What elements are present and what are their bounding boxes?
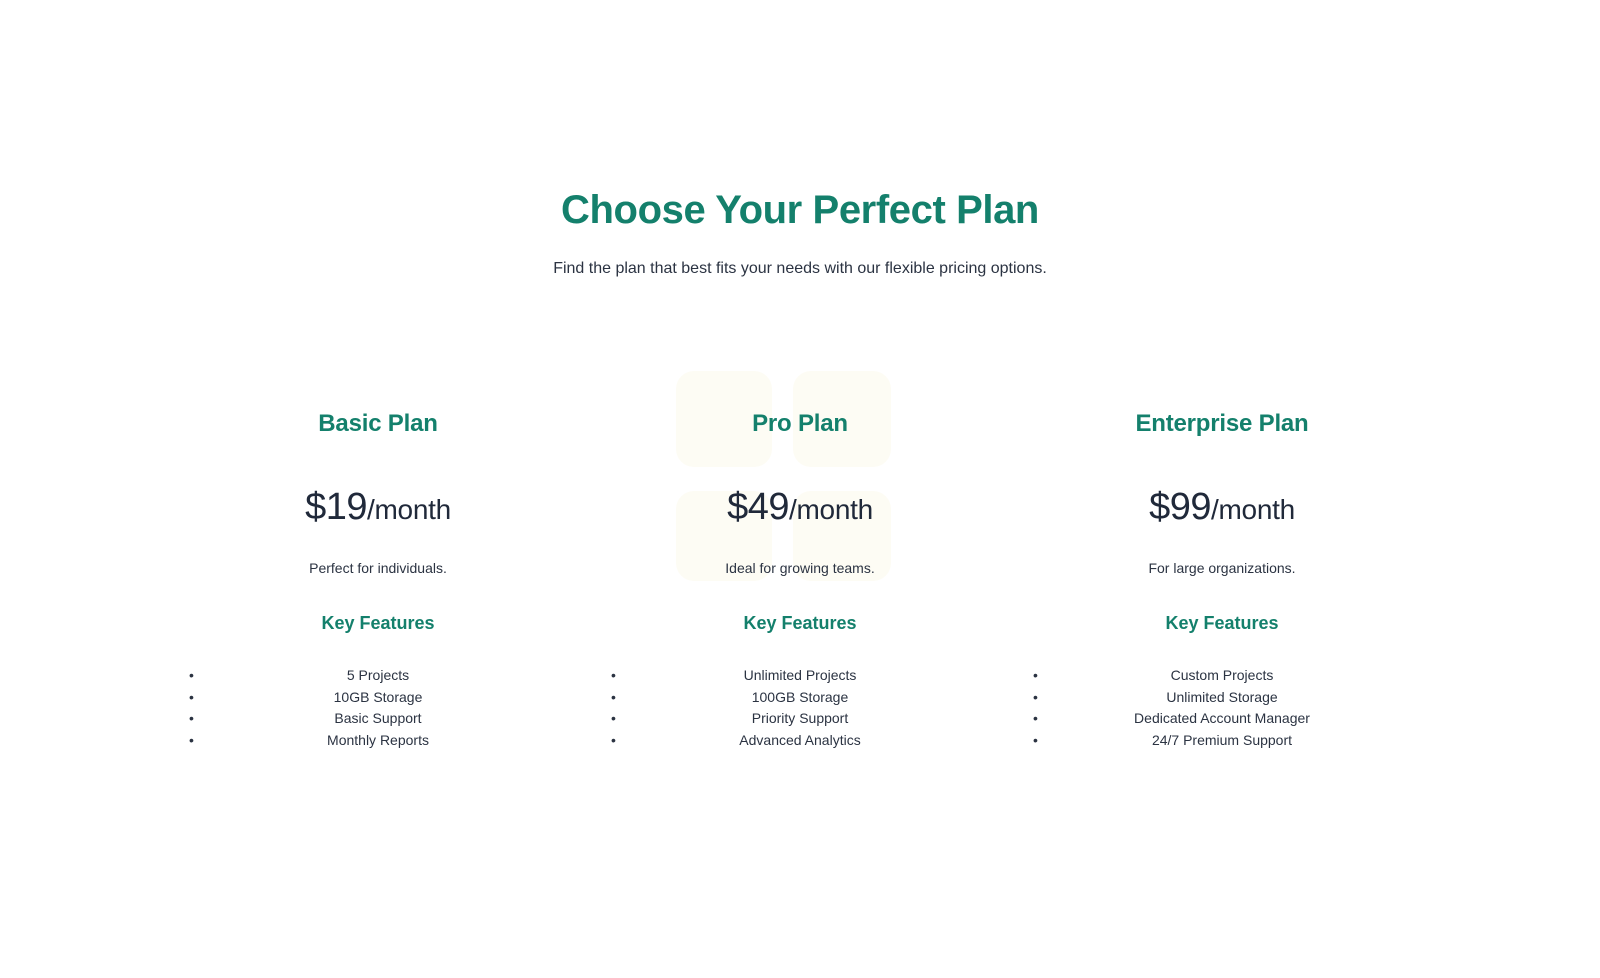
plan-price: $49/month <box>589 439 1011 526</box>
feature-list-item: •10GB Storage <box>167 687 589 709</box>
plan-price-amount: $19 <box>305 486 367 528</box>
feature-list-item: •Basic Support <box>167 708 589 730</box>
feature-label: Advanced Analytics <box>739 732 860 748</box>
feature-label: Unlimited Storage <box>1166 689 1277 705</box>
bullet-icon: • <box>1033 687 1038 709</box>
plan-description: For large organizations. <box>1011 526 1433 579</box>
features-heading: Key Features <box>1011 579 1433 635</box>
pricing-header: Choose Your Perfect Plan Find the plan t… <box>0 186 1600 280</box>
feature-label: Monthly Reports <box>327 732 429 748</box>
bullet-icon: • <box>1033 730 1038 752</box>
feature-label: Unlimited Projects <box>744 667 857 683</box>
feature-list-item: •5 Projects <box>167 665 589 687</box>
bullet-icon: • <box>189 665 194 687</box>
plan-price-period: /month <box>367 494 451 525</box>
feature-list-item: •Priority Support <box>589 708 1011 730</box>
feature-label: 5 Projects <box>347 667 409 683</box>
plan-price: $19/month <box>167 439 589 526</box>
plan-name: Basic Plan <box>167 408 589 439</box>
page-title: Choose Your Perfect Plan <box>0 186 1600 234</box>
plan-price-period: /month <box>789 494 873 525</box>
bullet-icon: • <box>1033 665 1038 687</box>
bullet-icon: • <box>611 708 616 730</box>
features-heading: Key Features <box>167 579 589 635</box>
feature-list-item: •Advanced Analytics <box>589 730 1011 752</box>
plan-price-period: /month <box>1211 494 1295 525</box>
plan-name: Enterprise Plan <box>1011 408 1433 439</box>
feature-label: 10GB Storage <box>334 689 423 705</box>
plan-price-amount: $99 <box>1149 486 1211 528</box>
features-list: •5 Projects•10GB Storage•Basic Support•M… <box>167 635 589 751</box>
feature-label: 100GB Storage <box>752 689 849 705</box>
feature-label: Basic Support <box>334 710 421 726</box>
plan-price-amount: $49 <box>727 486 789 528</box>
bullet-icon: • <box>189 687 194 709</box>
feature-label: Dedicated Account Manager <box>1134 710 1310 726</box>
page-subtitle: Find the plan that best fits your needs … <box>0 234 1600 280</box>
feature-list-item: •100GB Storage <box>589 687 1011 709</box>
bullet-icon: • <box>1033 708 1038 730</box>
feature-list-item: •24/7 Premium Support <box>1011 730 1433 752</box>
features-list: •Unlimited Projects•100GB Storage•Priori… <box>589 635 1011 751</box>
plan-card[interactable]: Enterprise Plan$99/monthFor large organi… <box>1011 408 1433 751</box>
plan-name: Pro Plan <box>589 408 1011 439</box>
features-list: •Custom Projects•Unlimited Storage•Dedic… <box>1011 635 1433 751</box>
bullet-icon: • <box>189 708 194 730</box>
plan-description: Perfect for individuals. <box>167 526 589 579</box>
feature-list-item: •Unlimited Projects <box>589 665 1011 687</box>
feature-label: 24/7 Premium Support <box>1152 732 1292 748</box>
pricing-plans-grid: Basic Plan$19/monthPerfect for individua… <box>0 408 1600 751</box>
bullet-icon: • <box>611 687 616 709</box>
bullet-icon: • <box>611 730 616 752</box>
plan-card[interactable]: Pro Plan$49/monthIdeal for growing teams… <box>589 408 1011 751</box>
pricing-page: Choose Your Perfect Plan Find the plan t… <box>0 0 1600 978</box>
plan-card[interactable]: Basic Plan$19/monthPerfect for individua… <box>167 408 589 751</box>
feature-list-item: •Dedicated Account Manager <box>1011 708 1433 730</box>
bullet-icon: • <box>611 665 616 687</box>
plan-price: $99/month <box>1011 439 1433 526</box>
bullet-icon: • <box>189 730 194 752</box>
feature-list-item: •Monthly Reports <box>167 730 589 752</box>
feature-label: Priority Support <box>752 710 848 726</box>
feature-list-item: •Unlimited Storage <box>1011 687 1433 709</box>
feature-list-item: •Custom Projects <box>1011 665 1433 687</box>
features-heading: Key Features <box>589 579 1011 635</box>
plan-description: Ideal for growing teams. <box>589 526 1011 579</box>
feature-label: Custom Projects <box>1171 667 1274 683</box>
